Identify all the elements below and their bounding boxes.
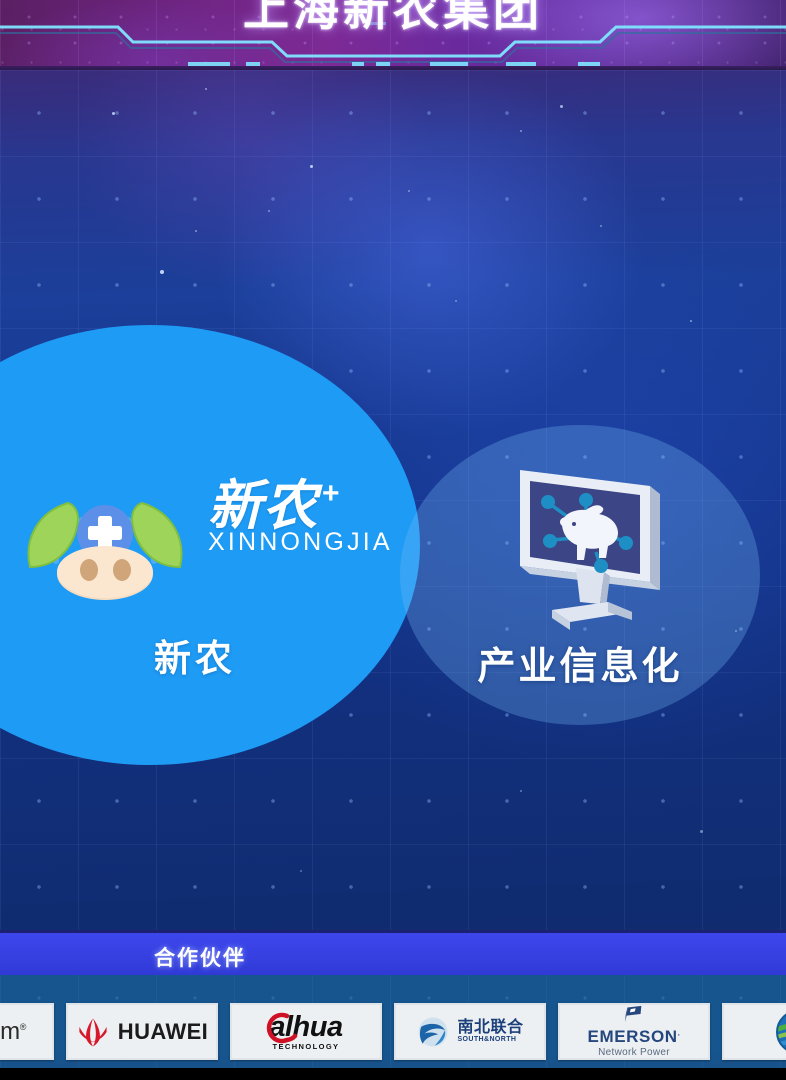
logo-plus-text: + — [322, 477, 340, 510]
label-industry-informatization: 产业信息化 — [455, 635, 705, 690]
wave-globe-icon — [416, 1015, 450, 1049]
partner-logo-globe[interactable] — [722, 1003, 786, 1060]
dahua-subtext: TECHNOLOGY — [269, 1043, 342, 1051]
emerson-subtext: Network Power — [588, 1047, 681, 1058]
partner-logo-southnorth[interactable]: 南北联合 SOUTH&NORTH — [394, 1003, 546, 1060]
emerson-wordmark: EMERSON — [588, 1027, 678, 1046]
monitor-with-pig-network-icon — [500, 452, 680, 632]
dashboard-page: 上海新农集团 — [0, 0, 786, 1080]
pig-with-leaves-logo-icon — [10, 475, 200, 605]
huawei-flower-icon — [76, 1015, 110, 1049]
polycom-trademark: ® — [20, 1022, 26, 1032]
partner-logo-huawei[interactable]: HUAWEI — [66, 1003, 218, 1060]
logo-en-text: XINNONGJIA — [208, 528, 408, 557]
xinnongjia-logo: 新农+ XINNONGJIA — [10, 475, 400, 605]
page-header: 上海新农集团 — [0, 0, 786, 70]
partner-logo-list: Polycom® HUAWEI — [0, 1003, 786, 1060]
southnorth-cn-wordmark: 南北联合 — [457, 1020, 523, 1037]
main-stage: 新农+ XINNONGJIA 新农 — [0, 70, 786, 930]
partners-band: 合作伙伴 — [0, 930, 786, 978]
partners-band-title: 合作伙伴 — [0, 942, 400, 972]
emerson-flag-icon — [623, 1005, 645, 1023]
emerson-trademark: . — [678, 1028, 681, 1037]
huawei-wordmark: HUAWEI — [118, 1019, 208, 1045]
page-title: 上海新农集团 — [0, 0, 786, 32]
green-blue-globe-icon — [774, 1008, 786, 1056]
label-xinnong: 新农 — [95, 628, 295, 682]
southnorth-en-wordmark: SOUTH&NORTH — [457, 1036, 523, 1043]
bottom-black-bar — [0, 1068, 786, 1080]
partners-footer: Polycom® HUAWEI — [0, 975, 786, 1080]
logo-cn-text: 新农 — [208, 481, 318, 532]
logo-text-block: 新农+ XINNONGJIA — [208, 481, 408, 557]
dahua-swoosh-icon — [265, 1012, 377, 1044]
partner-logo-polycom[interactable]: Polycom® — [0, 1003, 54, 1060]
partner-logo-emerson[interactable]: EMERSON. Network Power — [558, 1003, 710, 1060]
polycom-wordmark: Polycom — [0, 1018, 20, 1045]
partner-logo-dahua[interactable]: alhua TECHNOLOGY — [230, 1003, 382, 1060]
